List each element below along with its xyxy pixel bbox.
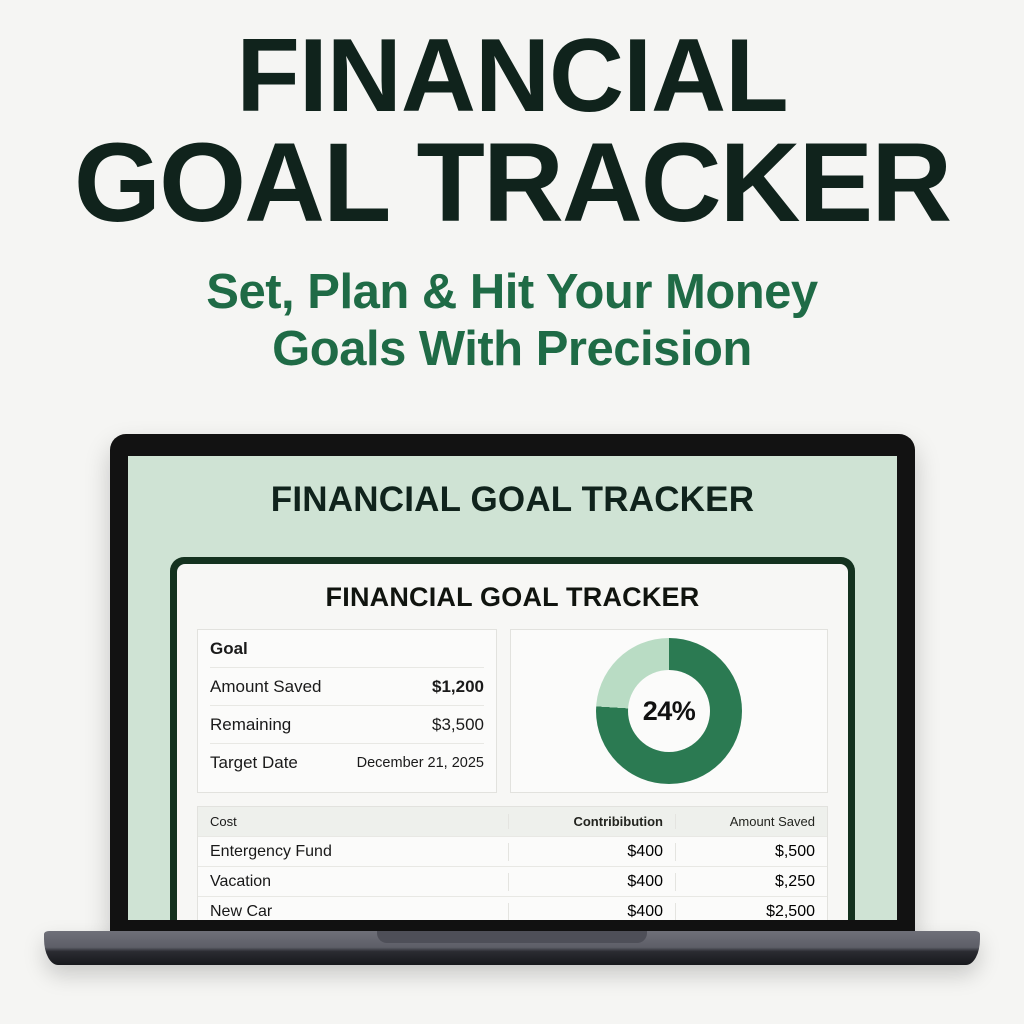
table-cell-contribution: $400 xyxy=(508,873,675,891)
laptop-screen: FINANCIAL GOAL TRACKER FINANCIAL GOAL TR… xyxy=(128,456,897,920)
summary-label-amount-saved: Amount Saved xyxy=(210,677,322,697)
progress-donut-chart: 24% xyxy=(596,638,742,784)
table-cell-amount-saved: $,250 xyxy=(675,873,827,891)
table-cell-contribution: $400 xyxy=(508,843,675,861)
spreadsheet-panel-inner: FINANCIAL GOAL TRACKER Goal Amount Saved… xyxy=(177,564,848,920)
summary-row-target-date: Target Date December 21, 2025 xyxy=(210,744,484,782)
summary-row-amount-saved: Amount Saved $1,200 xyxy=(210,668,484,706)
table-cell-cost: Entergency Fund xyxy=(198,843,508,861)
goal-summary-card: Goal Amount Saved $1,200 Remaining $3,50… xyxy=(197,629,497,793)
progress-chart-card: 24% xyxy=(510,629,828,793)
table-row: New Car $400 $2,500 xyxy=(198,897,827,920)
table-cell-cost: New Car xyxy=(198,903,508,921)
table-header-row: Cost Contribibution Amount Saved xyxy=(198,807,827,837)
laptop-mockup: FINANCIAL GOAL TRACKER FINANCIAL GOAL TR… xyxy=(110,434,915,934)
summary-title-row: Goal xyxy=(210,630,484,668)
table-row: Entergency Fund $400 $,500 xyxy=(198,837,827,867)
table-cell-cost: Vacation xyxy=(198,873,508,891)
summary-and-chart-row: Goal Amount Saved $1,200 Remaining $3,50… xyxy=(197,629,828,793)
spreadsheet-heading: FINANCIAL GOAL TRACKER xyxy=(197,582,828,613)
hero-section: FINANCIAL GOAL TRACKER Set, Plan & Hit Y… xyxy=(0,0,1024,379)
laptop-base-notch xyxy=(377,931,647,943)
page-title-line1: FINANCIAL xyxy=(236,18,787,134)
summary-row-remaining: Remaining $3,500 xyxy=(210,706,484,744)
donut-center-label: 24% xyxy=(628,670,710,752)
laptop-base xyxy=(44,931,980,965)
summary-value-target-date: December 21, 2025 xyxy=(357,755,484,771)
table-cell-contribution: $400 xyxy=(508,903,675,921)
summary-label-remaining: Remaining xyxy=(210,715,291,735)
goals-table: Cost Contribibution Amount Saved Enterge… xyxy=(197,806,828,920)
laptop-lid: FINANCIAL GOAL TRACKER FINANCIAL GOAL TR… xyxy=(110,434,915,934)
table-header-amount-saved: Amount Saved xyxy=(675,814,827,829)
page-subtitle: Set, Plan & Hit Your Money Goals With Pr… xyxy=(0,264,1024,380)
spreadsheet-panel: FINANCIAL GOAL TRACKER Goal Amount Saved… xyxy=(170,557,855,920)
page-subtitle-line2: Goals With Precision xyxy=(0,321,1024,379)
screen-heading: FINANCIAL GOAL TRACKER xyxy=(128,456,897,520)
summary-label-target-date: Target Date xyxy=(210,753,298,773)
table-header-cost: Cost xyxy=(198,814,508,829)
summary-title: Goal xyxy=(210,639,248,659)
table-cell-amount-saved: $,500 xyxy=(675,843,827,861)
page-title-line2: GOAL TRACKER xyxy=(0,128,1024,238)
table-cell-amount-saved: $2,500 xyxy=(675,903,827,921)
page-subtitle-line1: Set, Plan & Hit Your Money xyxy=(206,265,817,319)
summary-value-remaining: $3,500 xyxy=(432,715,484,735)
summary-value-amount-saved: $1,200 xyxy=(432,677,484,697)
page-title: FINANCIAL GOAL TRACKER xyxy=(0,26,1024,238)
table-header-contribution: Contribibution xyxy=(508,814,675,829)
table-row: Vacation $400 $,250 xyxy=(198,867,827,897)
